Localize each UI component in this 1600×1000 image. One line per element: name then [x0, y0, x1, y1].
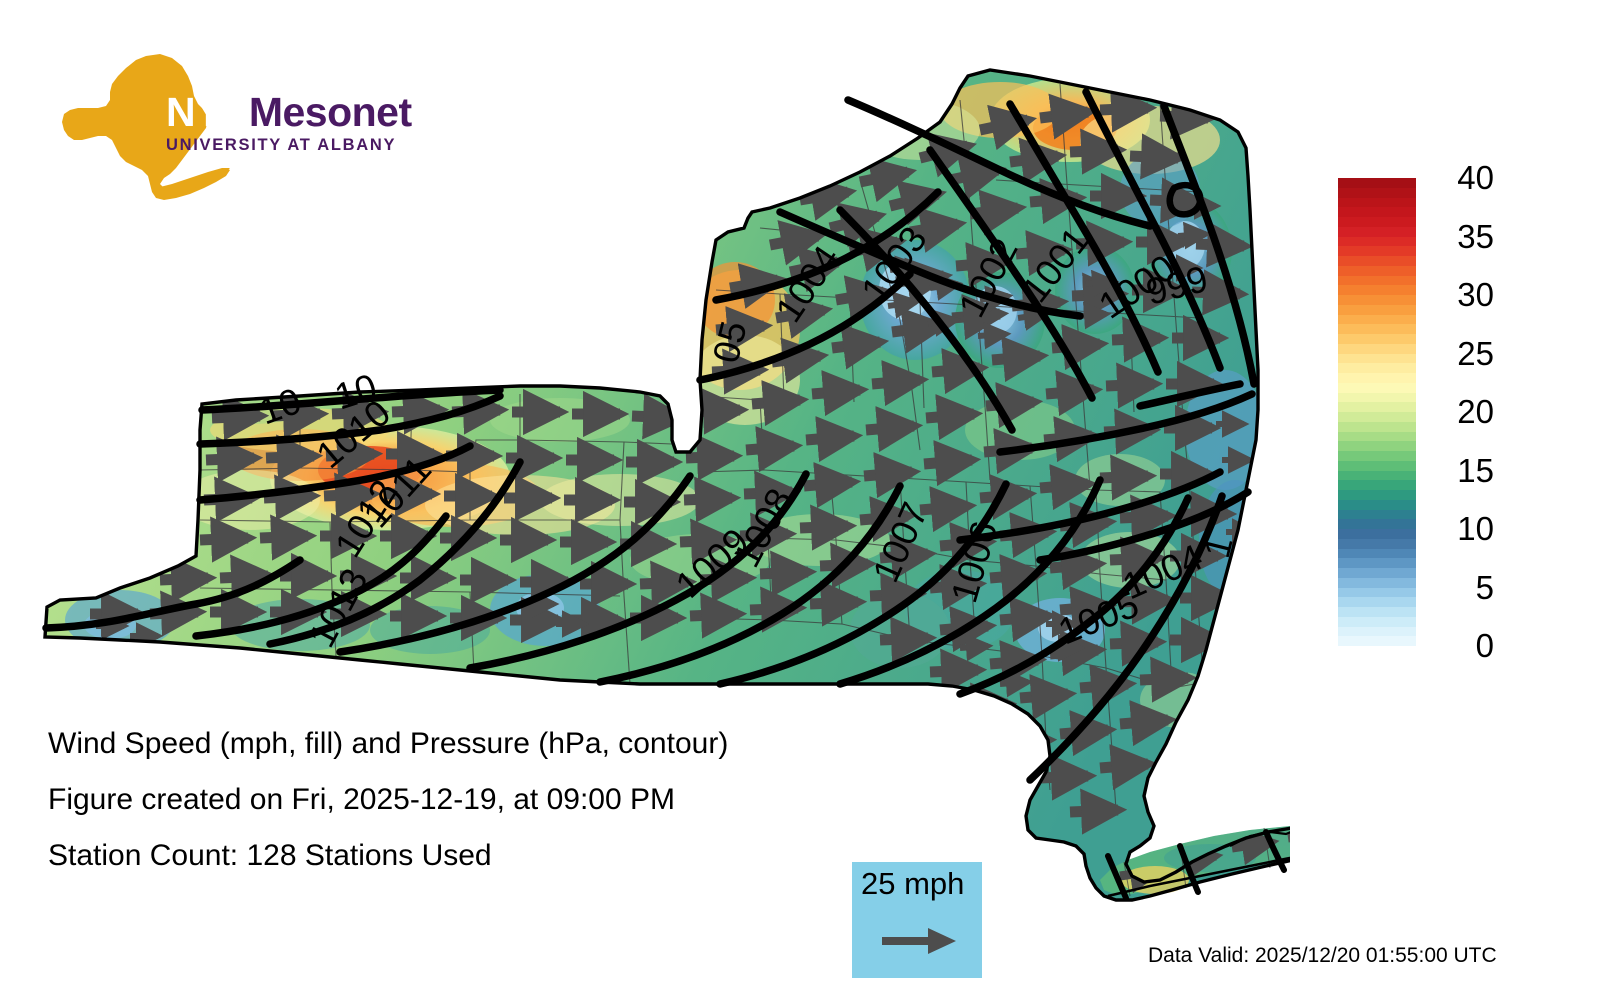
- colorbar-band: [1338, 285, 1416, 295]
- colorbar-band: [1338, 451, 1416, 461]
- logo-mesonet-text: Mesonet: [249, 89, 412, 135]
- colorbar-tick-label: 15: [1422, 451, 1494, 491]
- colorbar-band: [1338, 558, 1416, 568]
- colorbar-tick-label: 5: [1422, 568, 1494, 608]
- colorbar-band: [1338, 383, 1416, 393]
- logo-subtitle: UNIVERSITY AT ALBANY: [166, 136, 466, 155]
- colorbar-band: [1338, 627, 1416, 637]
- wind-vector-key: 25 mph: [852, 862, 982, 978]
- colorbar-band: [1338, 617, 1416, 627]
- colorbar-band: [1338, 198, 1416, 208]
- colorbar-band: [1338, 607, 1416, 617]
- colorbar-band: [1338, 402, 1416, 412]
- colorbar-band: [1338, 422, 1416, 432]
- colorbar-band: [1338, 363, 1416, 373]
- colorbar-band: [1338, 568, 1416, 578]
- colorbar-band: [1338, 480, 1416, 490]
- figure-caption: Wind Speed (mph, fill) and Pressure (hPa…: [48, 716, 868, 884]
- colorbar-band: [1338, 578, 1416, 588]
- colorbar-band: [1338, 217, 1416, 227]
- colorbar-band: [1338, 636, 1416, 646]
- caption-title: Wind Speed (mph, fill) and Pressure (hPa…: [48, 716, 868, 772]
- colorbar-band: [1338, 461, 1416, 471]
- colorbar-band: [1338, 246, 1416, 256]
- colorbar-band: [1338, 324, 1416, 334]
- colorbar-band: [1338, 237, 1416, 247]
- colorbar-band: [1338, 588, 1416, 598]
- colorbar-tick-labels: 4035302520151050: [1422, 158, 1542, 666]
- colorbar-tick-label: 30: [1422, 275, 1494, 315]
- colorbar-band: [1338, 490, 1416, 500]
- colorbar-band: [1338, 510, 1416, 520]
- weather-map-figure: 1013 1012 1011 1010 10 10 1009 1008 1007…: [0, 0, 1600, 1000]
- nys-mesonet-logo: NYSMesonet UNIVERSITY AT ALBANY: [48, 52, 408, 202]
- colorbar-band: [1338, 471, 1416, 481]
- colorbar-band: [1338, 207, 1416, 217]
- colorbar-tick-label: 10: [1422, 509, 1494, 549]
- colorbar-band: [1338, 178, 1416, 188]
- colorbar-band: [1338, 305, 1416, 315]
- colorbar-band: [1338, 256, 1416, 266]
- logo-wordmark: NYSMesonet: [166, 90, 466, 134]
- colorbar-band: [1338, 519, 1416, 529]
- colorbar-band: [1338, 354, 1416, 364]
- colorbar-band: [1338, 344, 1416, 354]
- logo-text-block: NYSMesonet UNIVERSITY AT ALBANY: [166, 90, 466, 155]
- colorbar-band: [1338, 315, 1416, 325]
- colorbar-tick-label: 35: [1422, 217, 1494, 257]
- colorbar-band: [1338, 441, 1416, 451]
- logo-nys-text: NYS: [166, 89, 249, 135]
- wind-vector-key-label: 25 mph: [861, 866, 964, 902]
- colorbar-band: [1338, 597, 1416, 607]
- colorbar-band: [1338, 334, 1416, 344]
- colorbar-gradient: [1338, 178, 1416, 646]
- colorbar-band: [1338, 373, 1416, 383]
- colorbar-tick-label: 0: [1422, 626, 1494, 666]
- colorbar-tick-label: 25: [1422, 334, 1494, 374]
- data-valid-timestamp: Data Valid: 2025/12/20 01:55:00 UTC: [1148, 944, 1497, 968]
- caption-created: Figure created on Fri, 2025-12-19, at 09…: [48, 772, 868, 828]
- colorbar-band: [1338, 529, 1416, 539]
- colorbar-band: [1338, 500, 1416, 510]
- colorbar-band: [1338, 549, 1416, 559]
- colorbar-band: [1338, 295, 1416, 305]
- colorbar-band: [1338, 188, 1416, 198]
- colorbar-band: [1338, 412, 1416, 422]
- colorbar-band: [1338, 393, 1416, 403]
- colorbar-band: [1338, 432, 1416, 442]
- colorbar-tick-label: 40: [1422, 158, 1494, 198]
- wind-vector-key-arrow-icon: [880, 924, 958, 958]
- caption-station-count: Station Count: 128 Stations Used: [48, 828, 868, 884]
- colorbar-band: [1338, 539, 1416, 549]
- colorbar-band: [1338, 266, 1416, 276]
- colorbar-band: [1338, 276, 1416, 286]
- wind-speed-colorbar: 4035302520151050: [1338, 178, 1568, 648]
- colorbar-band: [1338, 227, 1416, 237]
- colorbar-tick-label: 20: [1422, 392, 1494, 432]
